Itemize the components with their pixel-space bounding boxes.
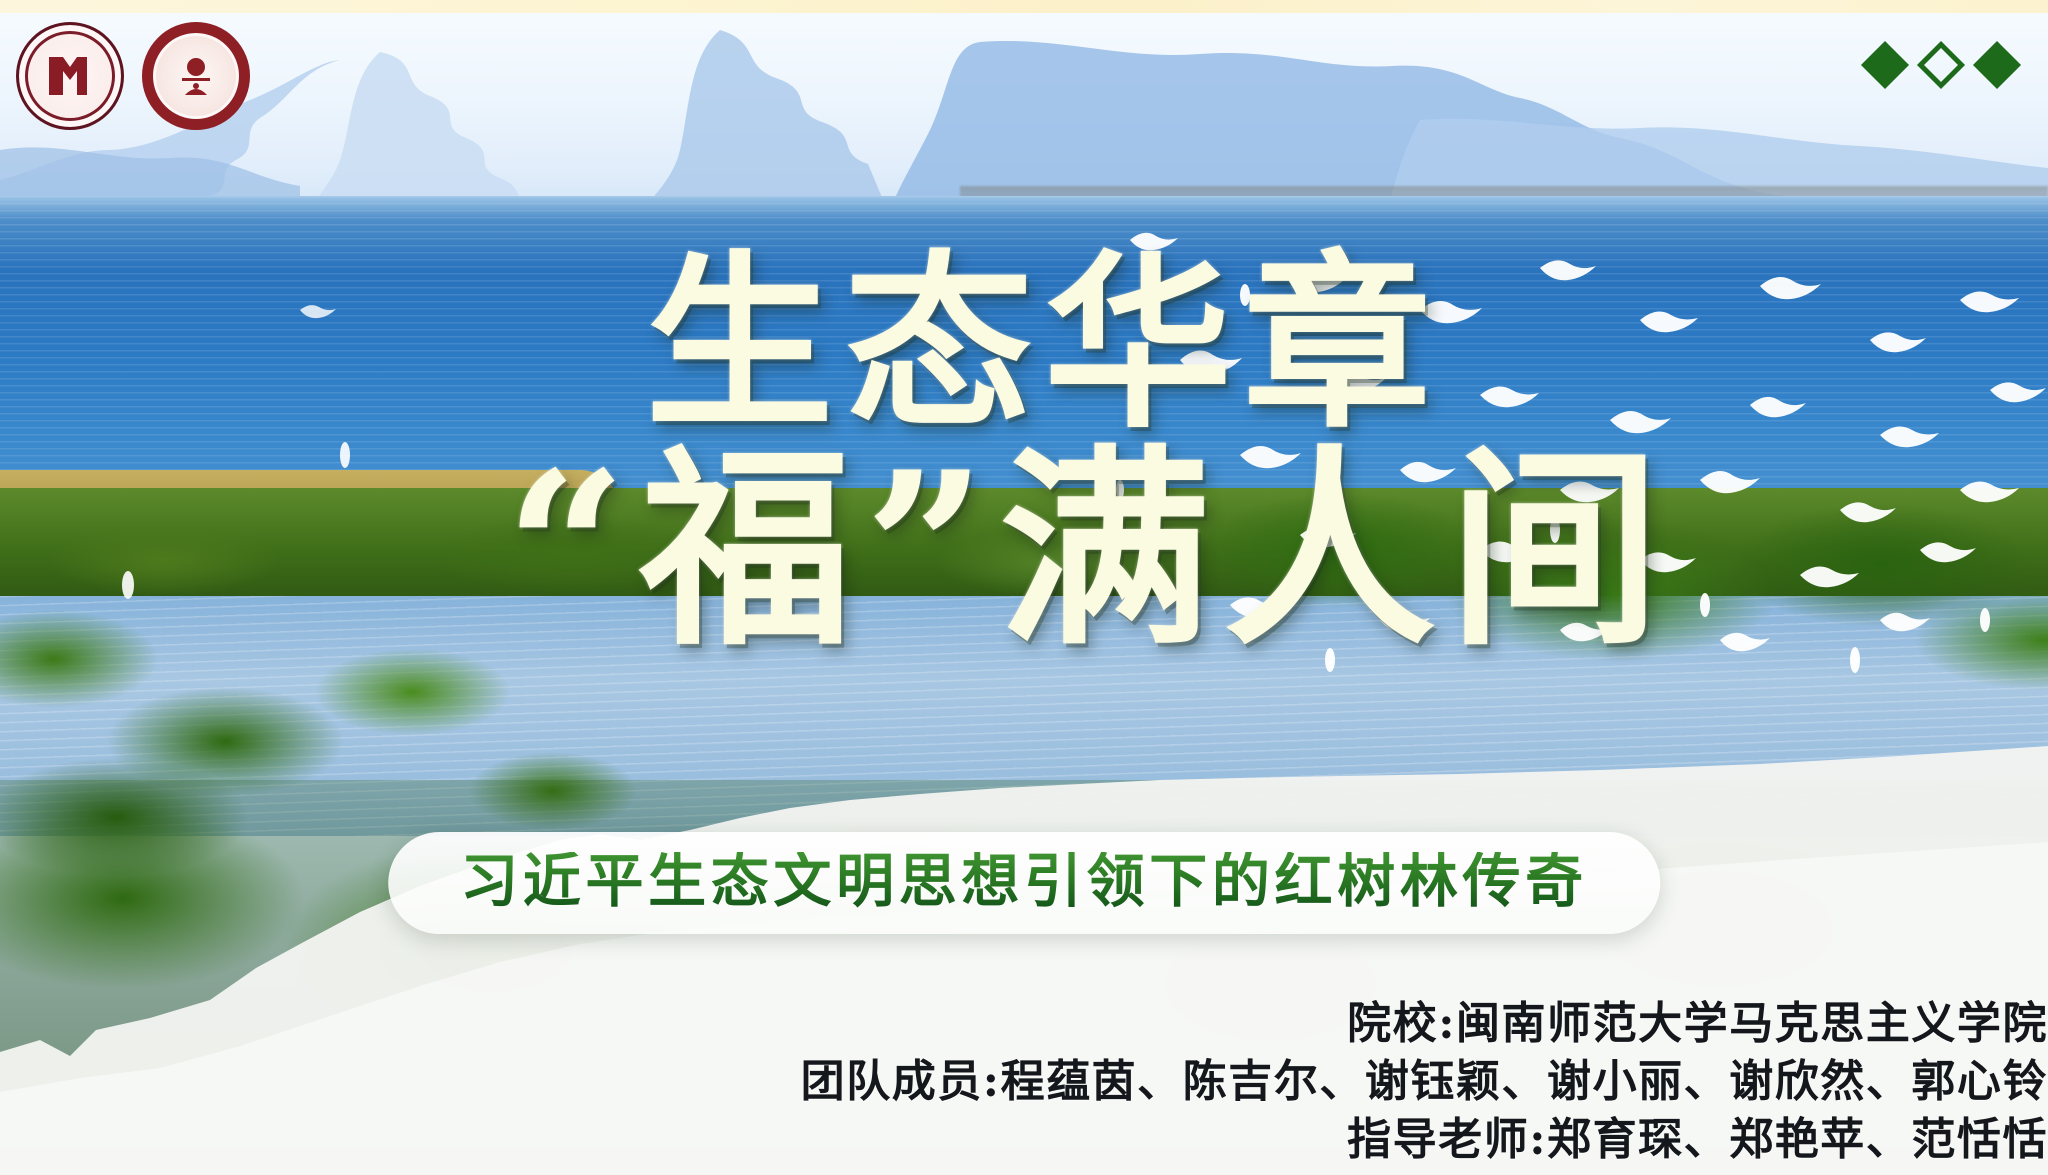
diamond-decoration (1868, 48, 2014, 82)
credits-block: 院校:闽南师范大学马克思主义学院 团队成员:程蕴茵、陈吉尔、谢钰颖、谢小丽、谢欣… (801, 995, 2048, 1169)
diamond-filled-icon (1973, 41, 2021, 89)
subtitle-pill: 习近平生态文明思想引领下的红树林传奇 (388, 832, 1660, 934)
university-logos (16, 22, 250, 130)
credit-team-members: 团队成员:程蕴茵、陈吉尔、谢钰颖、谢小丽、谢欣然、郭心铃 (801, 1053, 2048, 1111)
marxism-school-seal-icon (142, 22, 250, 130)
credit-advisors: 指导老师:郑育琛、郑艳苹、范恬恬 (801, 1111, 2048, 1169)
poster-canvas: 生态华章 “福”满人间 习近平生态文明思想引领下的红树林传奇 院校:闽南师范大学… (0, 0, 2048, 1175)
title-line-1: 生态华章 (0, 250, 2048, 438)
subtitle-text: 习近平生态文明思想引领下的红树林传奇 (460, 852, 1588, 910)
figure-emblem-icon (169, 51, 223, 101)
credit-institution: 院校:闽南师范大学马克思主义学院 (801, 995, 2048, 1053)
top-accent-strip (0, 0, 2048, 13)
diamond-filled-icon (1861, 41, 1909, 89)
minnan-normal-university-seal-icon (16, 22, 124, 130)
book-emblem-icon (43, 51, 97, 101)
title-line-2: “福”满人间 (0, 444, 2048, 656)
poster-title: 生态华章 “福”满人间 (0, 250, 2048, 656)
diamond-hollow-icon (1917, 41, 1965, 89)
